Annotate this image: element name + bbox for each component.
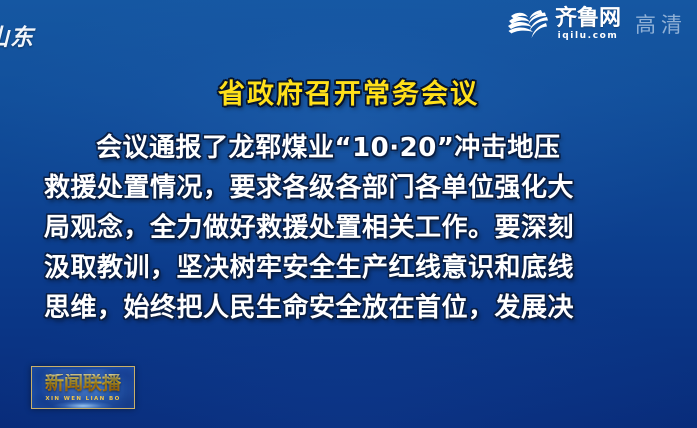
qilu-swirl-icon bbox=[505, 6, 551, 42]
program-bug-pinyin: XIN WEN LIAN BO bbox=[45, 396, 120, 402]
body-line: 会议通报了龙郓煤业“10·20”冲击地压 bbox=[44, 128, 596, 168]
hd-badge: 高清 bbox=[635, 9, 689, 39]
broadcast-screen: 山东 齐鲁网 bbox=[0, 0, 697, 428]
qilu-logo: 齐鲁网 iqilu.com bbox=[505, 6, 621, 42]
body-text-block: 会议通报了龙郓煤业“10·20”冲击地压 救援处置情况，要求各级各部门各单位强化… bbox=[44, 128, 596, 328]
body-line: 局观念，全力做好救援处置相关工作。要深刻 bbox=[44, 208, 596, 248]
station-logo-block: 齐鲁网 iqilu.com 高清 bbox=[505, 6, 689, 42]
program-bug: 新闻联播 XIN WEN LIAN BO bbox=[31, 366, 135, 409]
body-line: 救援处置情况，要求各级各部门各单位强化大 bbox=[44, 168, 596, 208]
body-line: 汲取教训，坚决树牢安全生产红线意识和底线 bbox=[44, 248, 596, 288]
qilu-logo-name: 齐鲁网 bbox=[555, 8, 621, 30]
body-line: 思维，始终把人民生命安全放在首位，发展决 bbox=[44, 288, 596, 328]
channel-watermark: 山东 bbox=[0, 18, 34, 52]
qilu-logo-text: 齐鲁网 iqilu.com bbox=[555, 8, 621, 41]
bug-glow-accent bbox=[53, 401, 113, 409]
program-bug-title: 新闻联播 bbox=[45, 374, 121, 393]
qilu-logo-url: iqilu.com bbox=[558, 32, 619, 41]
headline-title: 省政府召开常务会议 bbox=[0, 72, 697, 111]
